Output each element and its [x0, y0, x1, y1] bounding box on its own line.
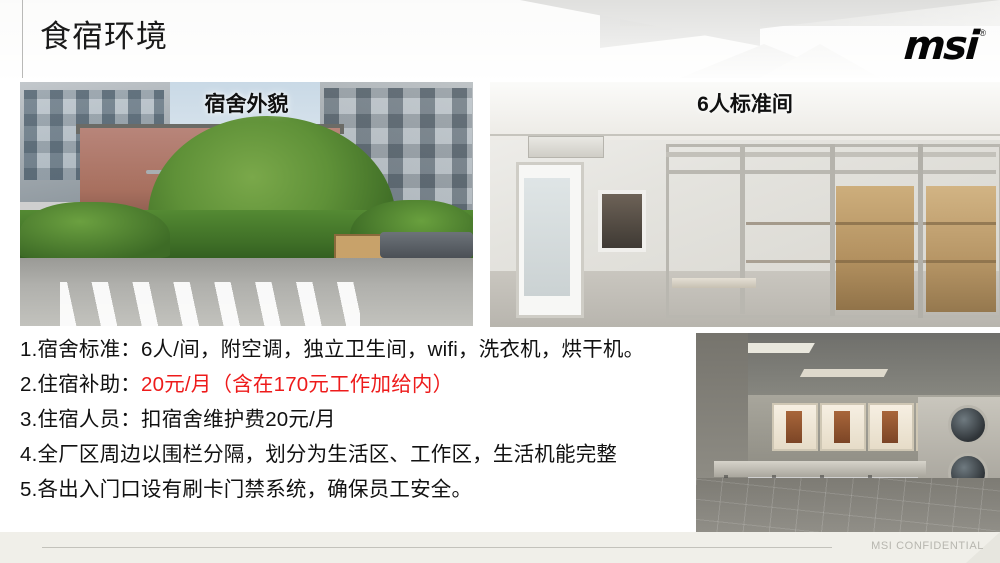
- bathroom-door-glass: [524, 178, 570, 296]
- bunk-post-3: [918, 144, 923, 318]
- body-line-2-accent: 20元/月（含在170元工作加给内）: [141, 373, 453, 396]
- wall-panel-2: [820, 403, 866, 451]
- footer-divider-rule: [42, 547, 832, 548]
- crosswalk-markings: [60, 282, 360, 326]
- body-line-2: 2.住宿补助：20元/月（含在170元工作加给内）: [20, 367, 740, 402]
- body-text-block: 1.宿舍标准：6人/间，附空调，独立卫生间，wifi，洗衣机，烘干机。 2.住宿…: [20, 332, 740, 507]
- wall-poster: [598, 190, 646, 252]
- ceiling-light-2: [800, 369, 888, 377]
- wall-panel-art-2: [834, 411, 850, 443]
- msi-logo: msi ®: [904, 26, 986, 66]
- wall-panel-art-1: [786, 411, 802, 443]
- air-conditioner-unit: [528, 136, 604, 158]
- wall-panel-1: [772, 403, 818, 451]
- laundry-floor-tiles: [696, 478, 1000, 540]
- wardrobe-unit-3: [926, 186, 996, 312]
- body-line-1: 1.宿舍标准：6人/间，附空调，独立卫生间，wifi，洗衣机，烘干机。: [20, 332, 740, 367]
- body-line-5-text: 5.各出入门口设有刷卡门禁系统，确保员工安全。: [20, 478, 472, 501]
- room-desk: [672, 278, 756, 288]
- confidentiality-label: MSI CONFIDENTIAL: [871, 540, 984, 552]
- body-line-3-text: 3.住宿人员：扣宿舍维护费20元/月: [20, 408, 336, 431]
- body-line-2-text: 2.住宿补助：: [20, 373, 141, 396]
- title-divider-rule: [22, 0, 23, 78]
- wall-panel-art-3: [882, 411, 898, 443]
- photo-laundry-room: [696, 333, 1000, 540]
- parked-cars: [380, 232, 473, 258]
- bunk-post-1: [740, 144, 745, 314]
- body-line-4: 4.全厂区周边以围栏分隔，划分为生活区、工作区，生活机能完整: [20, 437, 740, 472]
- body-line-4-text: 4.全厂区周边以围栏分隔，划分为生活区、工作区，生活机能完整: [20, 443, 617, 466]
- slide-header: 食宿环境 msi ®: [0, 0, 1000, 78]
- photo-dorm-exterior: 宿舍外貌: [20, 82, 473, 326]
- registered-trademark-icon: ®: [979, 28, 986, 38]
- photo-standard-room: 6人标准间: [490, 82, 1000, 327]
- wardrobe-shelf-line-2: [746, 260, 996, 263]
- body-line-3: 3.住宿人员：扣宿舍维护费20元/月: [20, 402, 740, 437]
- slide-footer: MSI CONFIDENTIAL: [0, 532, 1000, 563]
- page-title: 食宿环境: [40, 18, 168, 56]
- washing-machine-door-1: [948, 405, 988, 445]
- wardrobe-shelf-line-1: [746, 222, 996, 225]
- photo-caption-standard-room: 6人标准间: [490, 88, 1000, 118]
- bunk-post-2: [830, 144, 835, 316]
- wardrobe-unit-2: [836, 186, 914, 310]
- body-line-1-text: 1.宿舍标准：6人/间，附空调，独立卫生间，wifi，洗衣机，烘干机。: [20, 338, 644, 361]
- msi-wordmark: msi: [903, 26, 979, 66]
- wardrobe-unit-1: [746, 186, 826, 306]
- wall-panel-3: [868, 403, 914, 451]
- body-line-5: 5.各出入门口设有刷卡门禁系统，确保员工安全。: [20, 472, 740, 507]
- photo-caption-dorm-exterior: 宿舍外貌: [20, 88, 473, 118]
